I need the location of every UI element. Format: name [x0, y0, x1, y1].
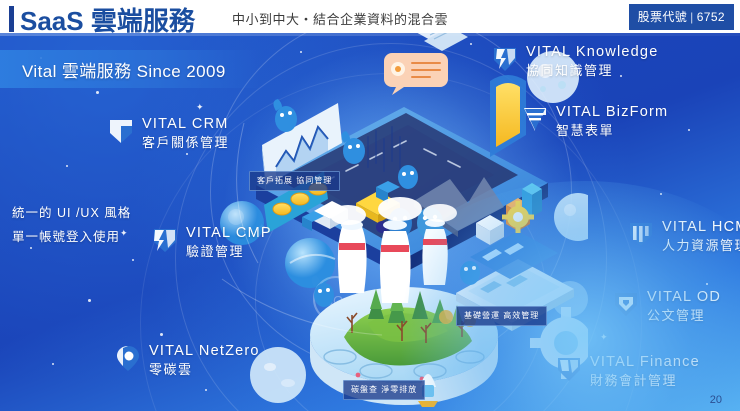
product-label-od[interactable]: VITAL OD 公文管理 — [613, 289, 721, 325]
stock-code-badge: 股票代號|6752 — [629, 4, 734, 30]
product-label-texts: VITAL Knowledge 協同知識管理 — [526, 44, 658, 80]
product-label-texts: VITAL OD 公文管理 — [647, 289, 721, 325]
illustration-badge-carbon-zero: 碳盤查 淨零排放 — [343, 380, 425, 400]
product-desc: 驗證管理 — [186, 242, 272, 261]
stock-code-label: 股票代號 — [638, 10, 688, 24]
vital-netzero-icon — [115, 344, 141, 372]
product-name: VITAL OD — [647, 289, 721, 306]
vital-cmp-icon — [152, 226, 178, 254]
product-label-texts: VITAL NetZero 零碳雲 — [149, 343, 260, 379]
vital-bizform-icon — [522, 105, 548, 133]
feature-line-1: 統一的 UI /UX 風格 — [12, 201, 131, 225]
product-name: VITAL Finance — [590, 354, 700, 371]
feature-line-2: 單一帳號登入使用 — [12, 225, 131, 249]
product-name: VITAL NetZero — [149, 343, 260, 360]
illustration-badge-ops-efficiency: 基礎營運 高效管理 — [456, 306, 547, 326]
page-title: SaaS 雲端服務 — [20, 1, 195, 38]
product-desc: 客戶關係管理 — [142, 133, 229, 152]
page-number: 20 — [710, 394, 722, 406]
slide-header: SaaS 雲端服務 中小到中大・結合企業資料的混合雲 股票代號|6752 — [0, 0, 740, 33]
stock-code-separator: | — [690, 10, 694, 24]
stock-code-value: 6752 — [697, 10, 725, 24]
product-name: VITAL BizForm — [556, 104, 668, 121]
isometric-illustration: CO₂ — [218, 33, 588, 411]
product-name: VITAL CRM — [142, 116, 229, 133]
product-name: VITAL CMP — [186, 225, 272, 242]
product-desc: 協同知識管理 — [526, 61, 658, 80]
product-desc: 零碳雲 — [149, 360, 260, 379]
product-desc: 財務會計管理 — [590, 371, 700, 390]
product-label-texts: VITAL BizForm 智慧表單 — [556, 104, 668, 140]
product-desc: 人力資源管理 — [662, 236, 740, 255]
vital-hcm-icon — [628, 220, 654, 248]
product-label-cmp[interactable]: VITAL CMP 驗證管理 — [152, 225, 272, 261]
slide-canvas: ✦ ✦ ✦ ✦ ✦ — [0, 33, 740, 411]
since-banner: Vital 雲端服務 Since 2009 — [0, 50, 262, 88]
vital-od-icon — [613, 290, 639, 318]
slide-root: SaaS 雲端服務 中小到中大・結合企業資料的混合雲 股票代號|6752 — [0, 0, 740, 411]
vital-knowledge-icon — [492, 45, 518, 73]
product-desc: 公文管理 — [647, 306, 721, 325]
product-name: VITAL HCM — [662, 219, 740, 236]
product-label-texts: VITAL CMP 驗證管理 — [186, 225, 272, 261]
product-label-texts: VITAL CRM 客戶關係管理 — [142, 116, 229, 152]
since-banner-text: Vital 雲端服務 Since 2009 — [0, 57, 226, 82]
ui-ux-feature-text: 統一的 UI /UX 風格 單一帳號登入使用 — [12, 201, 131, 249]
product-name: VITAL Knowledge — [526, 44, 658, 61]
product-label-texts: VITAL Finance 財務會計管理 — [590, 354, 700, 390]
product-label-finance[interactable]: VITAL Finance 財務會計管理 — [556, 354, 700, 390]
product-label-crm[interactable]: VITAL CRM 客戶關係管理 — [108, 116, 229, 152]
header-accent-bar — [9, 6, 14, 32]
page-subtitle: 中小到中大・結合企業資料的混合雲 — [232, 9, 448, 28]
vital-crm-icon — [108, 117, 134, 145]
product-label-texts: VITAL HCM 人力資源管理 — [662, 219, 740, 255]
product-label-bizform[interactable]: VITAL BizForm 智慧表單 — [522, 104, 668, 140]
vital-finance-icon — [556, 355, 582, 383]
product-label-knowledge[interactable]: VITAL Knowledge 協同知識管理 — [492, 44, 658, 80]
product-label-netzero[interactable]: VITAL NetZero 零碳雲 — [115, 343, 260, 379]
product-desc: 智慧表單 — [556, 121, 668, 140]
product-label-hcm[interactable]: VITAL HCM 人力資源管理 — [628, 219, 740, 255]
illustration-badge-crm-collab: 客戶拓展 協同管理 — [249, 171, 340, 191]
